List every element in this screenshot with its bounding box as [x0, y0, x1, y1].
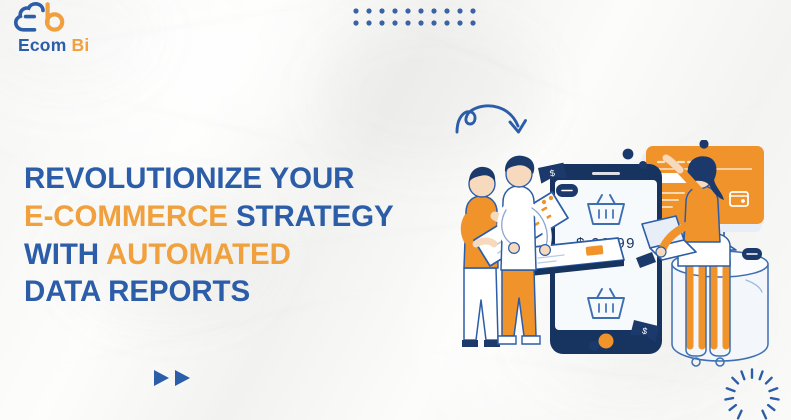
floating-dot [589, 341, 599, 351]
floating-dot [639, 161, 647, 169]
headline-line-2: E-COMMERCE STRATEGY [24, 198, 454, 236]
brand-logo[interactable]: Ecom Bi [14, 2, 124, 55]
floating-pill [742, 248, 762, 260]
brand-wordmark: Ecom Bi [14, 37, 124, 55]
floating-dot [623, 149, 634, 160]
headline-line-2-rest: STRATEGY [228, 200, 394, 233]
double-play-arrow-icon [152, 368, 196, 388]
floating-pill [556, 184, 578, 197]
dot-grid [352, 6, 482, 32]
person-placing-card [498, 156, 550, 344]
headline-line-3: WITH AUTOMATED [24, 236, 454, 274]
headline: REVOLUTIONIZE YOUR E-COMMERCE STRATEGY W… [24, 160, 454, 312]
marketing-banner: Ecom Bi REVOLUTIONIZE YOUR E-COMMERCE ST… [0, 0, 791, 420]
brand-word-primary: Ecom [18, 35, 66, 55]
headline-line-4: DATA REPORTS [24, 273, 454, 311]
ecom-bi-cloud-b-logo-icon [14, 2, 76, 36]
headline-highlight-ecommerce: E-COMMERCE [24, 200, 228, 233]
headline-line-1: REVOLUTIONIZE YOUR [24, 160, 454, 198]
ecommerce-analytics-illustration: $ 99.99 [446, 140, 791, 390]
headline-line-3-lead: WITH [24, 238, 106, 271]
brand-word-secondary: Bi [72, 35, 90, 55]
headline-highlight-automated: AUTOMATED [106, 238, 291, 271]
